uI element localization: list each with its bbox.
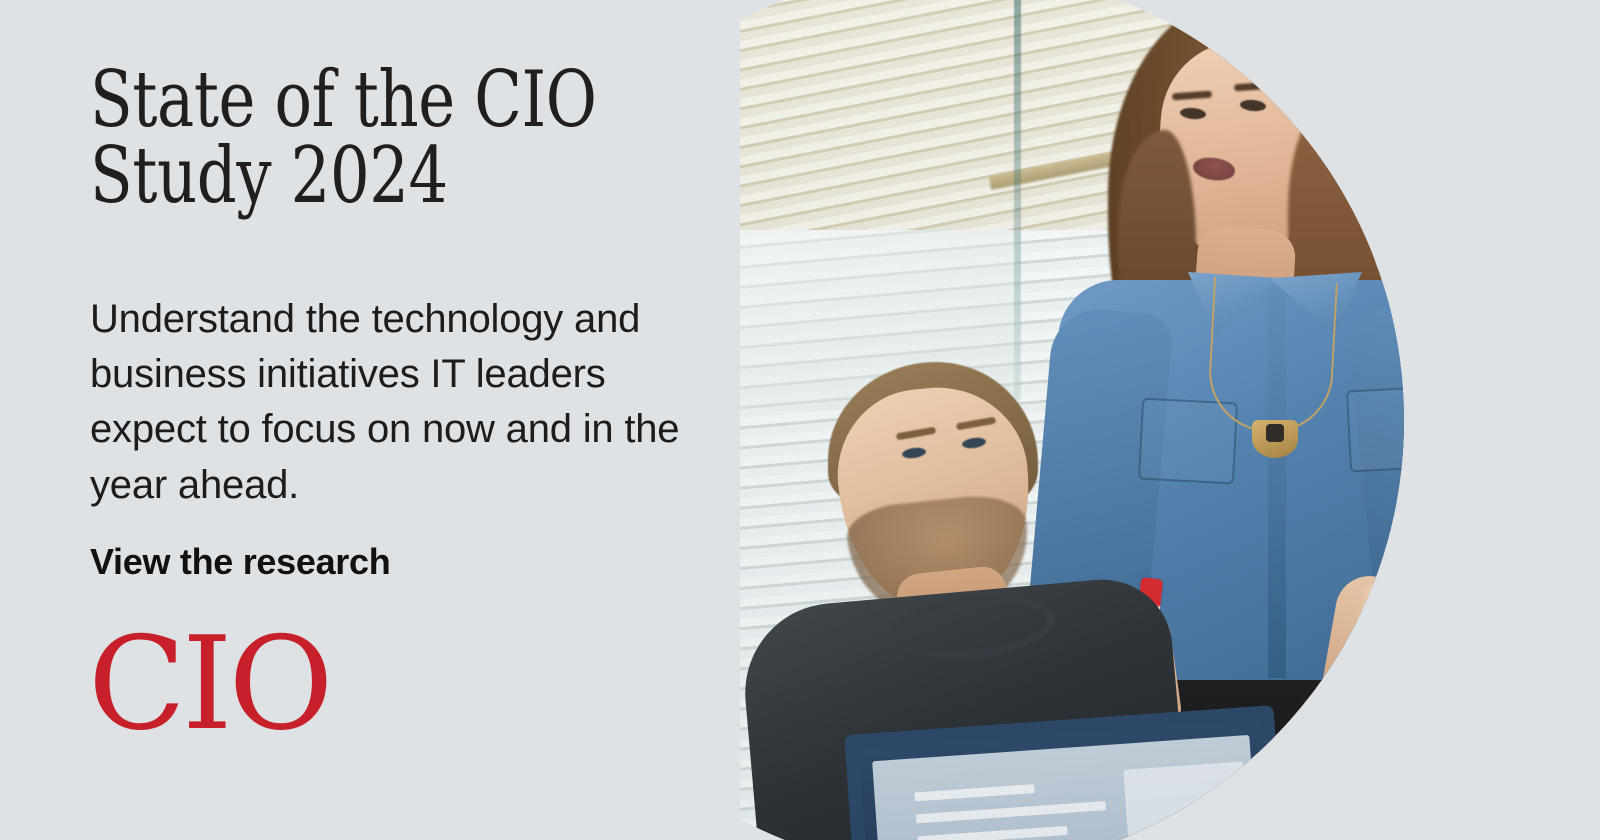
cio-promo-banner: State of the CIO Study 2024 Understand t… bbox=[0, 0, 1600, 840]
blue-pen bbox=[1482, 573, 1567, 596]
monitor-screen bbox=[872, 735, 1260, 840]
presenter-hand-right bbox=[1316, 571, 1460, 740]
banner-description: Understand the technology and business i… bbox=[90, 292, 690, 513]
screen-line bbox=[914, 784, 1034, 801]
screen-panel bbox=[1123, 761, 1249, 840]
screen-line bbox=[917, 826, 1067, 840]
foreground-colleague-shirt bbox=[1268, 698, 1600, 840]
hero-photo bbox=[740, 0, 1600, 840]
presenter-pocket-right bbox=[1346, 386, 1446, 473]
presenter-necklace bbox=[1206, 277, 1338, 435]
cio-logo-text: CIO bbox=[88, 628, 329, 738]
window-mullion bbox=[1014, 0, 1021, 400]
view-the-research-link[interactable]: View the research bbox=[90, 540, 390, 583]
banner-content: State of the CIO Study 2024 Understand t… bbox=[90, 0, 750, 840]
page-title: State of the CIO Study 2024 bbox=[90, 62, 618, 215]
office-background bbox=[740, 0, 1600, 840]
cio-logo[interactable]: CIO bbox=[88, 628, 388, 738]
screen-line bbox=[916, 801, 1106, 823]
presenter-pendant bbox=[1252, 420, 1298, 458]
presenter-brow-right bbox=[1234, 82, 1274, 92]
foreground-colleague-hand bbox=[1534, 543, 1600, 677]
